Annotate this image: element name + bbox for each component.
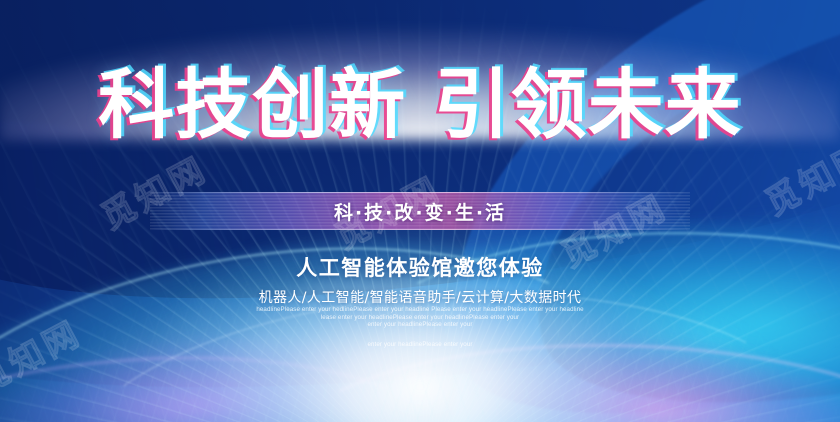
tagline-text: 人工智能体验馆邀您体验 bbox=[0, 252, 840, 282]
subtitle-text: 科·技·改·变·生·活 bbox=[0, 192, 840, 230]
page-title: 科技创新 引领未来 bbox=[0, 62, 840, 148]
tech-poster-banner: 科技创新 引领未来 科·技·改·变·生·活 人工智能体验馆邀您体验 机器人/人工… bbox=[0, 0, 840, 422]
placeholder-paragraph: headlinePlease enter your hedlinePlease … bbox=[170, 306, 670, 348]
poster-content: 科技创新 引领未来 科·技·改·变·生·活 人工智能体验馆邀您体验 机器人/人工… bbox=[0, 0, 840, 422]
placeholder-line-3: enter your headlinePlease enter your bbox=[295, 321, 545, 329]
keywords-text: 机器人/人工智能/智能语音助手/云计算/大数据时代 bbox=[0, 287, 840, 307]
placeholder-line-4: enter your headlinePlease enter your bbox=[295, 341, 545, 349]
placeholder-line-1: headlinePlease enter your hedlinePlease … bbox=[170, 306, 670, 314]
placeholder-line-2: lease enter your headlinePlease enter yo… bbox=[220, 314, 620, 322]
